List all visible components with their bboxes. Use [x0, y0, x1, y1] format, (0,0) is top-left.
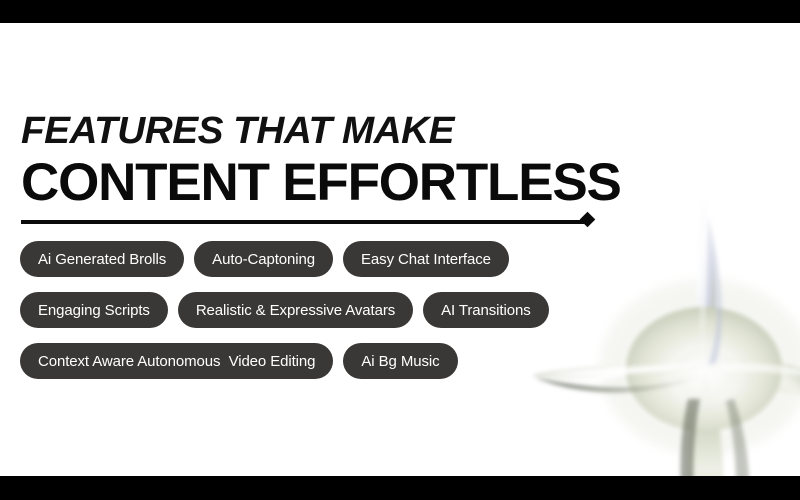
- feature-pill[interactable]: Engaging Scripts: [20, 292, 168, 328]
- feature-pill[interactable]: Easy Chat Interface: [343, 241, 509, 277]
- feature-pill[interactable]: Realistic & Expressive Avatars: [178, 292, 413, 328]
- headline-line-1: FEATURES THAT MAKE: [21, 112, 633, 150]
- feature-pill[interactable]: Ai Generated Brolls: [20, 241, 184, 277]
- feature-pill[interactable]: Ai Bg Music: [343, 343, 457, 379]
- feature-pill-row: Context Aware Autonomous Video Editing A…: [20, 343, 640, 379]
- feature-pill-row: Engaging Scripts Realistic & Expressive …: [20, 292, 640, 328]
- feature-pill[interactable]: Context Aware Autonomous Video Editing: [20, 343, 333, 379]
- divider: [21, 219, 593, 224]
- page-title: FEATURES THAT MAKE CONTENT EFFORTLESS: [21, 112, 621, 209]
- letterbox-bar-bottom: [0, 476, 800, 500]
- headline-line-2: CONTENT EFFORTLESS: [21, 156, 621, 209]
- promo-canvas: FEATURES THAT MAKE CONTENT EFFORTLESS Ai…: [0, 0, 800, 500]
- feature-pill[interactable]: AI Transitions: [423, 292, 548, 328]
- divider-line: [21, 220, 587, 224]
- feature-pill[interactable]: Auto-Captoning: [194, 241, 333, 277]
- letterbox-bar-top: [0, 0, 800, 23]
- diamond-marker-icon: [580, 212, 596, 228]
- feature-pill-list: Ai Generated Brolls Auto-Captoning Easy …: [20, 241, 640, 394]
- feature-pill-row: Ai Generated Brolls Auto-Captoning Easy …: [20, 241, 640, 277]
